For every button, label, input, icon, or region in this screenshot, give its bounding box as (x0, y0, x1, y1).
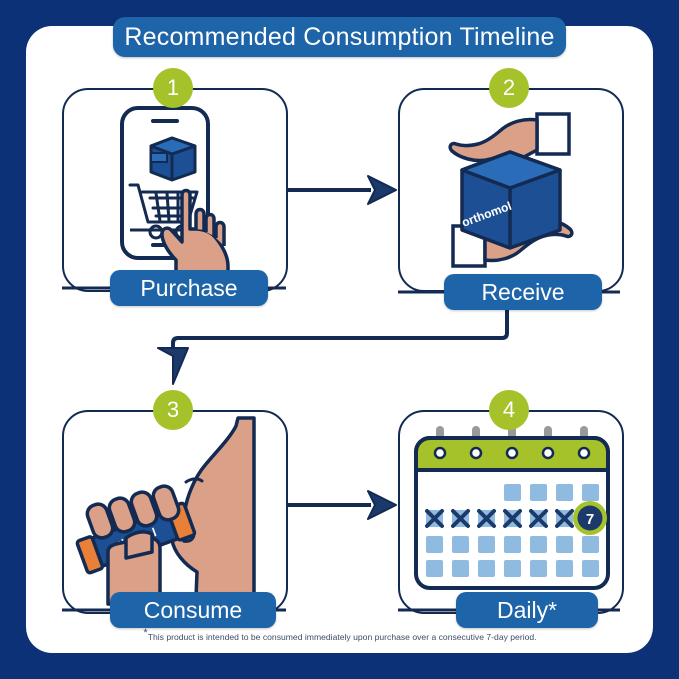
parcel-box-orthomol: orthomol (460, 152, 560, 248)
footnote: *This product is intended to be consumed… (60, 627, 620, 643)
step-card-purchase (62, 88, 288, 292)
hands-holding-box-icon: orthomol (400, 90, 622, 290)
step-badge-2: 2 (489, 68, 529, 108)
step-badge-4: 4 (489, 390, 529, 430)
step-badge-3: 3 (153, 390, 193, 430)
step-label-daily: Daily* (456, 592, 598, 628)
outer-frame: Recommended Consumption Timeline (0, 0, 679, 679)
step-badge-1: 1 (153, 68, 193, 108)
step-card-receive: orthomol (398, 88, 624, 292)
step-card-daily: 7 (398, 410, 624, 614)
calendar-day-7-badge: 7 (573, 501, 607, 535)
step-label-receive: Receive (444, 274, 602, 310)
step-label-purchase: Purchase (110, 270, 268, 306)
parcel-box (151, 138, 195, 180)
page-title: Recommended Consumption Timeline (113, 17, 566, 57)
step-label-consume: Consume (110, 592, 276, 628)
step-card-consume: orthomol (62, 410, 288, 614)
calendar-icon: 7 (400, 412, 622, 612)
calendar-day-7-label: 7 (586, 511, 594, 528)
smartphone-shopping-cart-icon (64, 90, 286, 290)
footnote-text: This product is intended to be consumed … (148, 632, 537, 642)
hand-drinking-vial-icon: orthomol (64, 412, 286, 612)
